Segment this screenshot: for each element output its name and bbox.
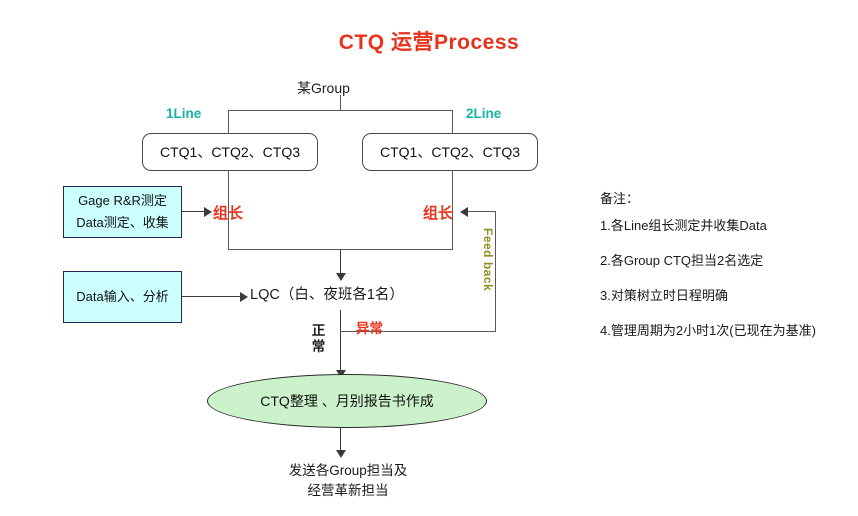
lqc-feed-arrowhead [336,273,346,281]
final-arrowhead [336,450,346,458]
line1-label: 1Line [166,106,201,121]
gage-to-leader-line [182,211,206,212]
final-recipients: 发送各Group担当及 经营革新担当 [233,461,463,500]
ctq-report-ellipse[interactable]: CTQ整理 、月别报告书作成 [207,374,487,428]
gage-rr-box[interactable]: Gage R&R测定 Data测定、收集 [63,186,182,238]
leader-right-label: 组长 [423,202,453,223]
feedback-label: Feed back [481,228,495,291]
diagram-canvas: CTQ 运营Process 某Group 1Line 2Line CTQ1、CT… [0,0,858,516]
group-bracket-stem [340,95,341,111]
note-item-4: 4.管理周期为2小时1次(已现在为基准) [600,324,816,337]
group-label: 某Group [297,78,350,98]
note-item-1: 1.各Line组长测定并收集Data [600,219,816,232]
feedback-arrowhead [460,207,468,217]
group-bracket-right-drop [452,110,453,134]
group-bracket-left-drop [228,110,229,134]
ctq-box-line2[interactable]: CTQ1、CTQ2、CTQ3 [362,133,538,171]
gage-to-leader-arrowhead [204,207,212,217]
final-recipients-line-1: 发送各Group担当及 [233,461,463,481]
lqc-label: LQC（白、夜班各1名） [250,286,404,306]
gage-rr-line-1: Gage R&R测定 [78,190,167,212]
leader-left-label: 组长 [213,202,243,223]
normal-branch-vertical [340,310,341,376]
ctq-box-line1[interactable]: CTQ1、CTQ2、CTQ3 [142,133,318,171]
data-input-label: Data输入、分析 [76,286,168,308]
line2-label: 2Line [466,106,501,121]
data-to-lqc-arrowhead [240,292,248,302]
notes-heading: 备注： [600,192,816,205]
data-to-lqc-line [182,296,242,297]
normal-label: 正常 [311,323,326,354]
note-item-3: 3.对策树立时日程明确 [600,289,816,302]
gage-rr-line-2: Data测定、收集 [76,212,168,234]
lqc-feed-vertical [340,249,341,275]
feedback-vertical [495,211,496,331]
data-input-box[interactable]: Data输入、分析 [63,271,182,323]
page-title: CTQ 运营Process [0,26,858,56]
abnormal-label: 异常 [356,317,383,337]
ctq-report-label: CTQ整理 、月别报告书作成 [260,391,433,411]
feedback-horizontal-top [468,211,496,212]
final-recipients-line-2: 经营革新担当 [233,481,463,501]
note-item-2: 2.各Group CTQ担当2名选定 [600,254,816,267]
notes-panel: 备注： 1.各Line组长测定并收集Data 2.各Group CTQ担当2名选… [600,192,816,337]
